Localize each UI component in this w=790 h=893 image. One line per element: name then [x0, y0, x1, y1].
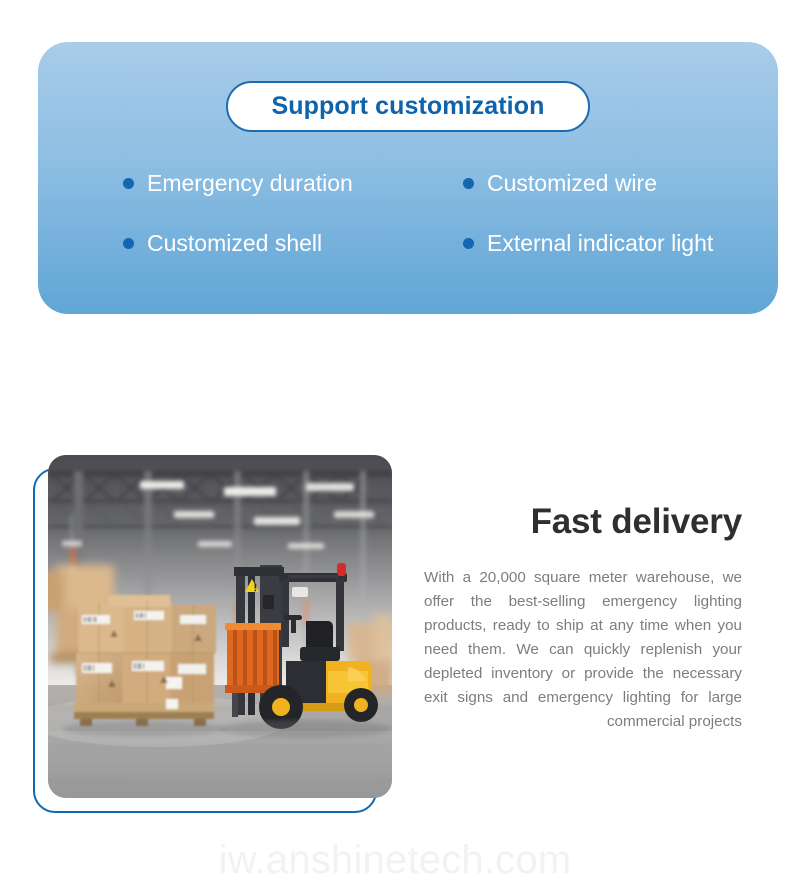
- list-item-label: External indicator light: [487, 230, 713, 258]
- list-item-label: Emergency duration: [147, 170, 353, 198]
- list-item-label: Customized wire: [487, 170, 657, 198]
- bullet-dot-icon: [123, 238, 134, 249]
- customization-feature-list: Emergency duration Customized wire Custo…: [38, 170, 778, 257]
- warehouse-photo: [48, 455, 392, 798]
- bullet-dot-icon: [123, 178, 134, 189]
- list-item-label: Customized shell: [147, 230, 322, 258]
- warehouse-photo-block: [33, 455, 395, 815]
- list-item-external-indicator-light: External indicator light: [431, 230, 778, 258]
- list-item-emergency-duration: Emergency duration: [38, 170, 431, 198]
- badge-row: Support customization: [38, 81, 778, 132]
- site-watermark: iw.anshinetech.com: [0, 838, 790, 882]
- delivery-description: With a 20,000 square meter warehouse, we…: [424, 566, 742, 734]
- fast-delivery-section: Fast delivery With a 20,000 square meter…: [424, 503, 742, 734]
- bullet-dot-icon: [463, 178, 474, 189]
- support-customization-badge: Support customization: [226, 81, 591, 132]
- warehouse-illustration: [48, 455, 392, 798]
- list-item-customized-shell: Customized shell: [38, 230, 431, 258]
- list-item-customized-wire: Customized wire: [431, 170, 778, 198]
- bullet-dot-icon: [463, 238, 474, 249]
- page-title: Fast delivery: [424, 503, 742, 542]
- support-customization-card: Support customization Emergency duration…: [38, 42, 778, 314]
